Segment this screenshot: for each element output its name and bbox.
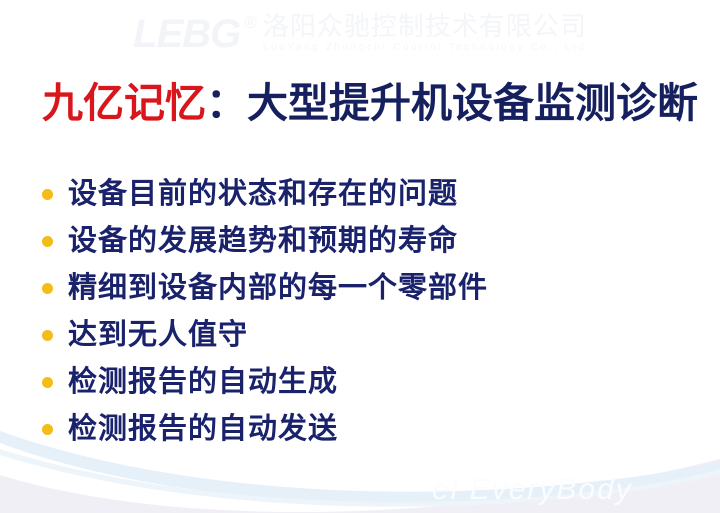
list-item-label: 设备目前的状态和存在的问题: [68, 180, 458, 209]
list-item: 检测报告的自动发送: [38, 406, 698, 453]
bullet-dot-icon: [42, 330, 53, 341]
company-name-english: LuoYang Zhongchi Control Technology Co.,…: [263, 43, 587, 53]
company-name-chinese: 洛阳众驰控制技术有限公司: [263, 13, 587, 39]
title-highlight: 九亿记忆: [42, 80, 206, 126]
list-item: 精细到设备内部的每一个零部件: [38, 265, 698, 312]
list-item: 设备的发展趋势和预期的寿命: [38, 218, 698, 265]
list-item-label: 设备的发展趋势和预期的寿命: [68, 227, 458, 256]
bullet-dot-icon: [42, 377, 53, 388]
list-item: 设备目前的状态和存在的问题: [38, 171, 698, 218]
company-watermark-header: LEBG ® 洛阳众驰控制技术有限公司 LuoYang Zhongchi Con…: [0, 0, 720, 66]
list-item: 达到无人值守: [38, 312, 698, 359]
swoosh-lavender-shape: [0, 459, 720, 513]
slide-canvas: LEBG ® 洛阳众驰控制技术有限公司 LuoYang Zhongchi Con…: [0, 0, 720, 513]
bullet-dot-icon: [42, 236, 53, 247]
bullet-dot-icon: [42, 424, 53, 435]
lebg-logo-text: LEBG: [133, 14, 240, 54]
list-item-label: 检测报告的自动发送: [68, 415, 338, 444]
title-main: 大型提升机设备监测诊断: [247, 80, 698, 126]
list-item-label: 精细到设备内部的每一个零部件: [68, 274, 488, 303]
title-separator: ：: [206, 80, 247, 126]
company-name-block: 洛阳众驰控制技术有限公司 LuoYang Zhongchi Control Te…: [263, 13, 587, 53]
bullet-dot-icon: [42, 283, 53, 294]
list-item-label: 检测报告的自动生成: [68, 368, 338, 397]
list-item-label: 达到无人值守: [68, 321, 248, 350]
bullet-dot-icon: [42, 189, 53, 200]
page-title: 九亿记忆：大型提升机设备监测诊断: [42, 80, 698, 127]
registered-trademark-icon: ®: [244, 13, 257, 33]
swoosh-blue-thin-line: [0, 449, 720, 507]
list-item: 检测报告的自动生成: [38, 359, 698, 406]
bullet-list: 设备目前的状态和存在的问题 设备的发展趋势和预期的寿命 精细到设备内部的每一个零…: [38, 171, 698, 453]
footer-watermark-text: el EveryBody: [432, 473, 633, 507]
